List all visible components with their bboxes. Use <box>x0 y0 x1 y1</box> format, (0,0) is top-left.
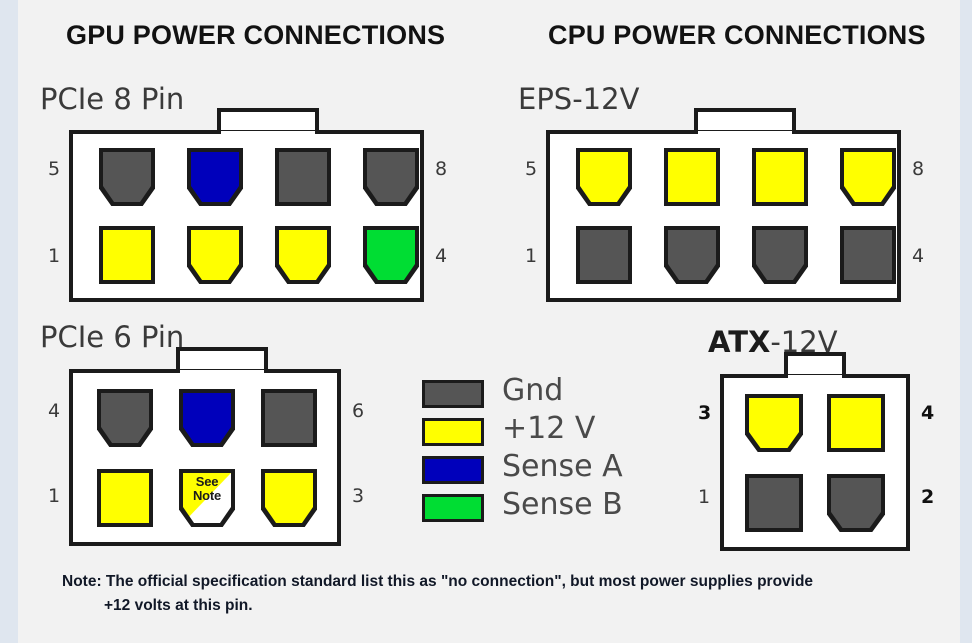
pin-2 <box>664 226 720 284</box>
pin-number-right-top-eps: 8 <box>912 158 924 180</box>
heading-cpu-power-connections: CPU POWER CONNECTIONS <box>548 20 926 51</box>
pin-number-right-bottom-eps: 4 <box>912 245 924 267</box>
pin-8 <box>840 148 896 206</box>
pin-1 <box>99 226 155 284</box>
footnote-line-1: Note: The official specification standar… <box>62 573 813 590</box>
pin-1 <box>576 226 632 284</box>
pin-number-left-bottom-pcie6: 1 <box>48 485 60 507</box>
legend-label-sense-a: Sense A <box>502 449 623 484</box>
pin-4 <box>827 394 885 452</box>
pin-5 <box>179 389 235 447</box>
pin-number-left-top-pcie6: 4 <box>48 400 60 422</box>
pin-6 <box>261 389 317 447</box>
pin-5 <box>99 148 155 206</box>
connector-label-pcie-8-pin: PCIe 8 Pin <box>40 82 184 116</box>
tab-seam <box>180 370 264 375</box>
pin-number-right-top-pcie6: 6 <box>352 400 364 422</box>
tab-seam <box>221 131 315 136</box>
pin-number-left-top-pcie8: 5 <box>48 158 60 180</box>
pin-3 <box>261 469 317 527</box>
legend-swatch-plus-12v <box>422 418 484 446</box>
see-note-line-1: See <box>196 474 219 489</box>
pin-7 <box>275 148 331 206</box>
tab-seam <box>788 375 842 380</box>
pin-number-right-bottom-pcie6: 3 <box>352 485 364 507</box>
pin-3 <box>752 226 808 284</box>
pin-1 <box>745 474 803 532</box>
footnote: Note: The official specification standar… <box>62 570 813 618</box>
pin-number-right-top-pcie8: 8 <box>435 158 447 180</box>
connector-label-eps-12v: EPS-12V <box>518 82 639 116</box>
see-note-line-2: Note <box>193 488 221 503</box>
heading-gpu-power-connections: GPU POWER CONNECTIONS <box>66 20 445 51</box>
pin-6 <box>187 148 243 206</box>
connector-label-pcie-6-pin: PCIe 6 Pin <box>40 320 184 354</box>
pin-4 <box>840 226 896 284</box>
legend-swatch-sense-a <box>422 456 484 484</box>
connector-atx-12v <box>720 374 910 551</box>
pin-number-right-top-atx: 4 <box>921 402 934 424</box>
legend-label-plus-12v: +12 V <box>502 411 595 446</box>
pin-7 <box>752 148 808 206</box>
connector-pcie-8-pin <box>69 130 424 302</box>
pin-number-right-bottom-atx: 2 <box>921 486 934 508</box>
legend-label-gnd: Gnd <box>502 373 563 408</box>
pin-3 <box>275 226 331 284</box>
pin-3 <box>745 394 803 452</box>
footnote-line-2: +12 volts at this pin. <box>62 594 813 618</box>
see-note-text: See Note <box>179 475 235 503</box>
legend-swatch-sense-b <box>422 494 484 522</box>
connector-eps-12v <box>546 130 901 302</box>
pin-number-left-bottom-eps: 1 <box>525 245 537 267</box>
pin-5 <box>576 148 632 206</box>
atx-label-bold: ATX <box>708 325 770 359</box>
pin-6 <box>664 148 720 206</box>
pin-2 <box>827 474 885 532</box>
legend-swatch-gnd <box>422 380 484 408</box>
pin-number-left-bottom-atx: 1 <box>698 486 710 508</box>
legend-label-sense-b: Sense B <box>502 487 623 522</box>
pin-4 <box>97 389 153 447</box>
pin-2 <box>187 226 243 284</box>
pin-2-see-note: See Note <box>179 469 235 527</box>
pin-number-left-bottom-pcie8: 1 <box>48 245 60 267</box>
pin-number-left-top-atx: 3 <box>698 402 711 424</box>
pin-number-right-bottom-pcie8: 4 <box>435 245 447 267</box>
tab-seam <box>698 131 792 136</box>
pin-number-left-top-eps: 5 <box>525 158 537 180</box>
pin-1 <box>97 469 153 527</box>
pin-8 <box>363 148 419 206</box>
pin-4 <box>363 226 419 284</box>
connector-pcie-6-pin: See Note <box>69 369 341 546</box>
diagram-canvas: GPU POWER CONNECTIONS CPU POWER CONNECTI… <box>18 0 960 643</box>
